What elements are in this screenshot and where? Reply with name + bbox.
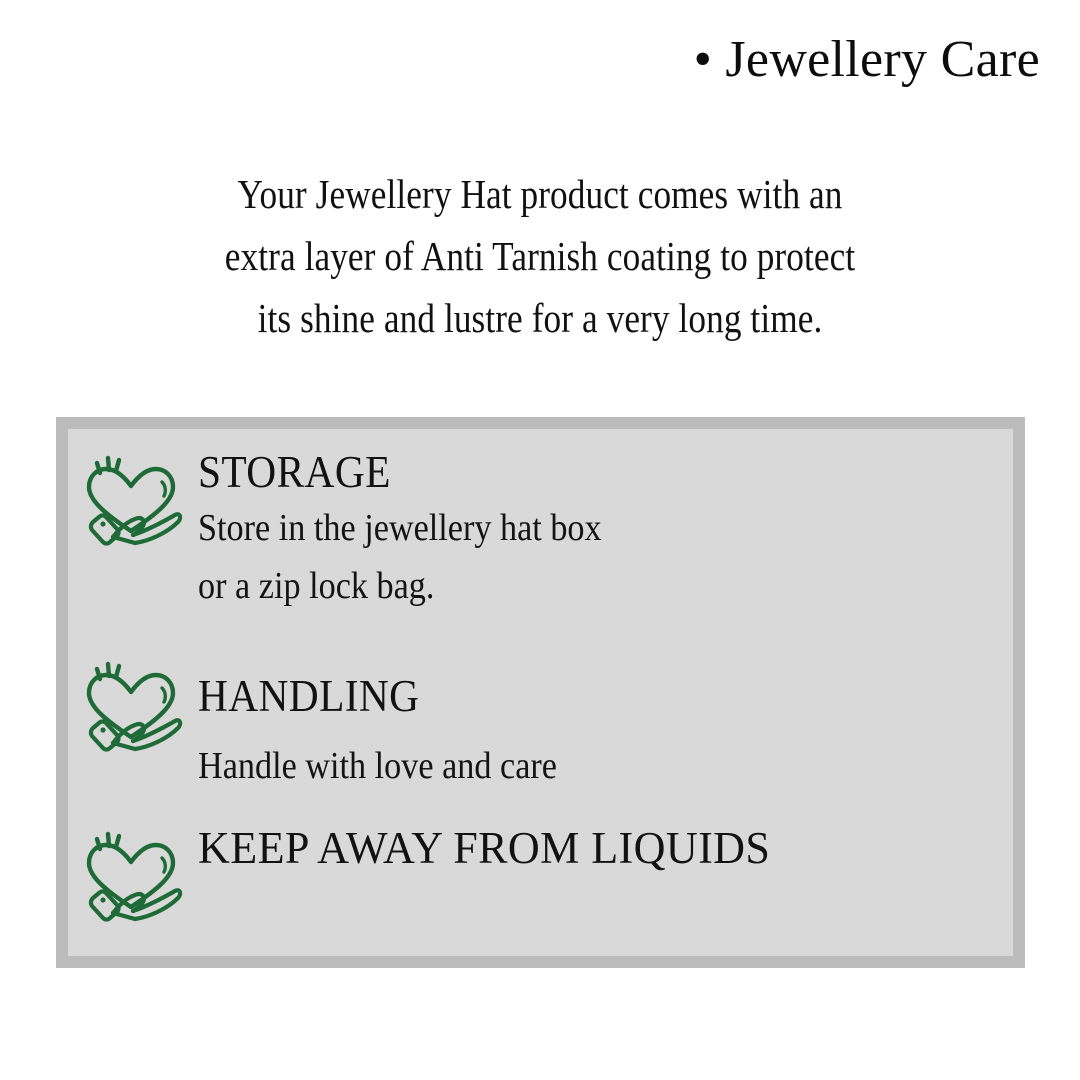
care-item-storage-text: STORAGE Store in the jewellery hat box o… (198, 445, 1013, 615)
care-item-storage-line-1: Store in the jewellery hat box (198, 499, 932, 557)
intro-line-3: its shine and lustre for a very long tim… (76, 287, 1005, 349)
hand-holding-heart-icon (83, 657, 183, 753)
care-item-handling-description: Handle with love and care (198, 737, 932, 795)
hand-holding-heart-icon (83, 451, 183, 547)
care-item-storage-line-2: or a zip lock bag. (198, 557, 932, 615)
page-header: • Jewellery Care (0, 34, 1040, 86)
care-item-handling-line-1: Handle with love and care (198, 737, 932, 795)
intro-line-2: extra layer of Anti Tarnish coating to p… (76, 225, 1005, 287)
intro-paragraph: Your Jewellery Hat product comes with an… (76, 163, 1005, 349)
care-item-handling-heading: HANDLING (198, 669, 948, 723)
care-item-storage-icon-cell (68, 445, 198, 547)
care-item-handling: HANDLING Handle with love and care (68, 651, 1013, 795)
care-item-handling-icon-cell (68, 651, 198, 753)
care-instructions-panel: STORAGE Store in the jewellery hat box o… (56, 417, 1025, 968)
care-item-storage-heading: STORAGE (198, 445, 948, 499)
page-title: • Jewellery Care (694, 34, 1040, 86)
jewellery-care-page: • Jewellery Care Your Jewellery Hat prod… (0, 0, 1080, 1080)
care-item-handling-text: HANDLING Handle with love and care (198, 651, 1013, 795)
care-item-storage-description: Store in the jewellery hat box or a zip … (198, 499, 932, 615)
care-item-liquids: KEEP AWAY FROM LIQUIDS (68, 821, 1013, 923)
care-item-storage: STORAGE Store in the jewellery hat box o… (68, 445, 1013, 615)
care-item-liquids-heading: KEEP AWAY FROM LIQUIDS (198, 821, 997, 875)
care-item-liquids-icon-cell (68, 821, 198, 923)
intro-line-1: Your Jewellery Hat product comes with an (76, 163, 1005, 225)
care-item-liquids-text: KEEP AWAY FROM LIQUIDS (198, 821, 1013, 875)
hand-holding-heart-icon (83, 827, 183, 923)
